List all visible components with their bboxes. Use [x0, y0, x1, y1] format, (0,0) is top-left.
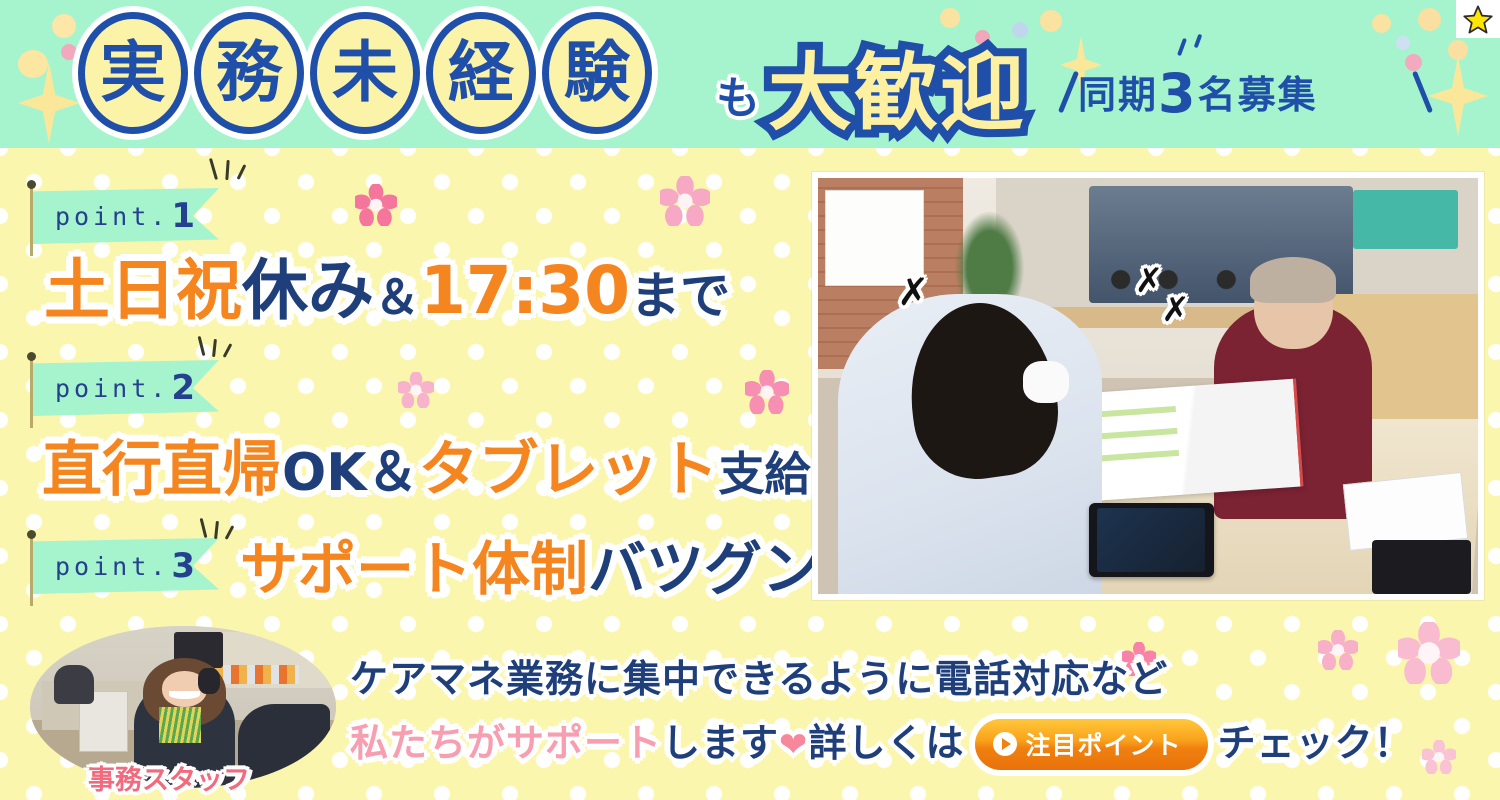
copy-line1-text: ケアマネ業務に集中できるように電話対応など — [350, 657, 1168, 701]
headline-part: バツグン — [588, 535, 820, 603]
copy-line2-pink: 私たちがサポート — [350, 721, 662, 765]
ribbon-number: 1 — [171, 196, 195, 236]
flower-decor — [745, 370, 789, 414]
star-badge — [1456, 0, 1500, 38]
headline-capsule-char: 験 — [542, 12, 652, 134]
headline-capsule-char: 未 — [310, 12, 420, 134]
ribbon-pole-dot — [27, 352, 36, 361]
ribbon-flag: point.1 — [33, 188, 219, 244]
headline-part: 支給 — [719, 447, 811, 501]
ribbon-pole-dot — [27, 180, 36, 189]
subtitle-prefix: 同期 — [1078, 73, 1158, 117]
bubble-decor — [52, 14, 76, 38]
headline-part: ＆ — [374, 270, 420, 324]
face-mask-x-icon: ✗ — [1161, 290, 1190, 330]
headline-part: 17:30 — [420, 252, 630, 329]
bubble-decor — [1405, 54, 1422, 71]
ribbon-flag: point.2 — [33, 360, 219, 416]
sparkle-icon — [1428, 56, 1488, 136]
flower-decor — [1422, 740, 1456, 774]
copy-line2-end: チェック！ — [1218, 721, 1413, 765]
ribbon-flag: point.3 — [33, 538, 219, 594]
face-mask-x-icon: ✗ — [897, 270, 929, 314]
bubble-decor — [1372, 14, 1391, 33]
headline-part: 休み — [242, 252, 374, 329]
tick-decor — [1177, 38, 1187, 56]
star-icon — [1463, 5, 1493, 34]
point-headline-1: 土日祝休み＆17:30まで — [44, 258, 730, 324]
ribbon-pole — [30, 184, 33, 256]
headline-part: タブレット — [419, 435, 719, 505]
point-headline-3: サポート体制バツグン — [240, 540, 820, 598]
headline-part: 土日祝 — [44, 252, 242, 329]
headline-highlight: 大歓迎 大歓迎 — [768, 26, 1026, 147]
flower-decor — [355, 184, 397, 226]
header-band: 実 務 未 経 験 も 大歓迎 大歓迎 同期3名募集 — [0, 0, 1500, 148]
ribbon-number: 3 — [171, 546, 195, 586]
bubble-decor — [1396, 36, 1410, 50]
headline-capsules: 実 務 未 経 験 — [78, 12, 652, 134]
tick-decor — [1194, 34, 1203, 49]
bubble-decor — [1040, 10, 1062, 32]
subtitle-number: 3 — [1158, 62, 1198, 125]
staff-photo-caption: 事務スタッフ — [88, 758, 250, 797]
heart-icon: ❤ — [779, 725, 809, 765]
ribbon-label: point. — [55, 202, 169, 231]
bubble-decor — [18, 50, 48, 78]
face-mask-x-icon: ✗ — [1135, 261, 1164, 301]
main-photo-scene — [818, 178, 1478, 594]
cta-label: 注目ポイント — [1026, 726, 1182, 762]
play-icon — [993, 732, 1017, 756]
flower-decor — [660, 176, 710, 226]
ribbon-pole — [30, 356, 33, 428]
slash-right-decor — [1412, 71, 1433, 114]
headline-part: 直行直帰 — [42, 435, 282, 505]
ribbon-number: 2 — [171, 368, 195, 408]
ribbon-pole — [30, 534, 33, 606]
point-headline-2: 直行直帰OK＆タブレット支給 — [42, 440, 811, 500]
headline-particle: も — [716, 62, 760, 126]
ribbon-label: point. — [55, 374, 169, 403]
bubble-decor — [1418, 8, 1441, 31]
headline-part: サポート体制 — [240, 535, 588, 603]
ribbon-label: point. — [55, 552, 169, 581]
headline-highlight-fill: 大歓迎 — [768, 26, 1026, 147]
headline-part: まで — [630, 267, 730, 325]
headline-capsule-char: 務 — [194, 12, 304, 134]
bottom-copy-line-1: ケアマネ業務に集中できるように電話対応など — [350, 648, 1168, 703]
flower-decor — [1318, 630, 1358, 670]
main-photo: ✗ ✗ ✗ — [812, 172, 1484, 600]
flower-decor — [398, 372, 434, 408]
slash-left-decor — [1058, 71, 1079, 114]
attention-point-button[interactable]: 注目ポイント — [975, 719, 1208, 770]
copy-line2-navy: します — [662, 721, 779, 765]
headline-part: OK＆ — [282, 443, 419, 503]
headline-capsule-char: 実 — [78, 12, 188, 134]
subtitle-suffix: 名募集 — [1198, 73, 1318, 117]
ribbon-pole-dot — [27, 530, 36, 539]
headline-capsule-char: 経 — [426, 12, 536, 134]
recruitment-banner: 実 務 未 経 験 も 大歓迎 大歓迎 同期3名募集 — [0, 0, 1500, 800]
bottom-copy-line-2: 私たちがサポートします❤詳しくは注目ポイントチェック！ — [350, 712, 1413, 770]
header-subtitle: 同期3名募集 — [1078, 62, 1318, 125]
copy-line2-tail: 詳しくは — [809, 721, 965, 765]
flower-decor — [1398, 622, 1460, 684]
bubble-decor — [61, 44, 77, 60]
bubble-decor — [940, 8, 960, 28]
